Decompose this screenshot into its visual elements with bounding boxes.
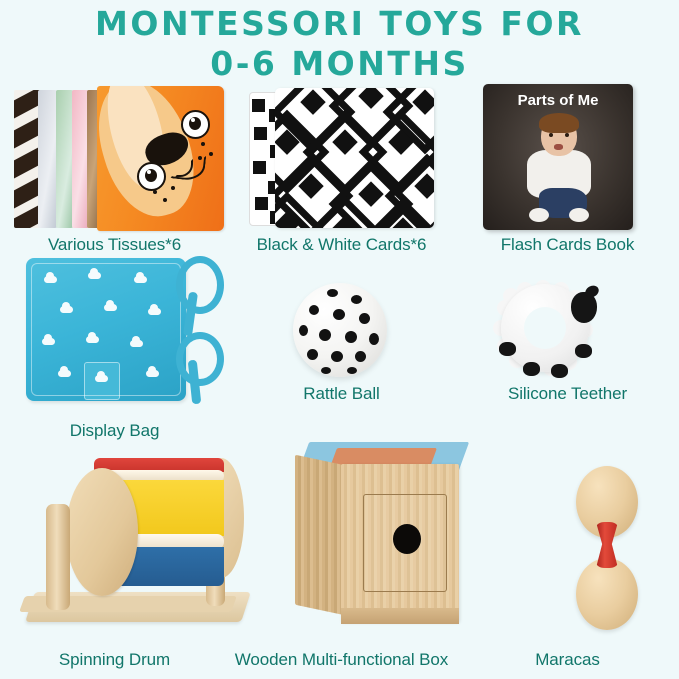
product-image-maracas (562, 466, 658, 636)
title-line-2: 0-6 MONTHS (0, 44, 679, 84)
baby-foot (529, 208, 549, 222)
product-label-silicone-teether: Silicone Teether (456, 384, 679, 404)
sheep-leg-icon (551, 364, 568, 378)
lion-freckle-icon (209, 152, 213, 156)
lion-freckle-icon (153, 190, 157, 194)
drum-support-post (46, 504, 70, 610)
product-image-display-bag (26, 256, 241, 404)
sheep-leg-icon (499, 342, 516, 356)
baby-photo-illustration (519, 116, 599, 228)
product-image-spinning-drum (22, 440, 254, 640)
display-bag-tie-loop (176, 332, 224, 386)
page-title: MONTESSORI TOYS FOR 0-6 MONTHS (0, 4, 679, 84)
display-bag-tie-loop (176, 256, 224, 314)
lion-eye-icon (137, 162, 166, 191)
bw-card-front (275, 88, 434, 228)
baby-eye (565, 133, 569, 137)
maraca-red-grip (596, 522, 618, 568)
lion-freckle-icon (163, 198, 167, 202)
product-image-various-tissues (14, 86, 224, 231)
product-label-wooden-multifunctional-box: Wooden Multi-functional Box (226, 650, 457, 670)
sheep-leg-icon (575, 344, 592, 358)
lion-cloth-book (97, 86, 224, 231)
lion-freckle-icon (198, 156, 202, 160)
product-label-rattle-ball: Rattle Ball (226, 384, 457, 404)
wooden-box-front-face (341, 464, 459, 622)
product-label-display-bag: Display Bag (0, 421, 229, 441)
product-label-flash-cards-book: Flash Cards Book (456, 235, 679, 255)
baby-hair (539, 113, 579, 133)
product-label-maracas: Maracas (456, 650, 679, 670)
product-image-rattle-ball (293, 283, 387, 377)
product-image-silicone-teether (493, 282, 605, 380)
lion-eye-icon (181, 110, 210, 139)
display-bag-pocket (84, 362, 120, 400)
baby-foot (569, 208, 589, 222)
cloth-book-stack (14, 90, 106, 228)
wooden-box-bottom-edge (341, 608, 459, 624)
baby-mouth (554, 144, 563, 150)
montessori-toys-poster: MONTESSORI TOYS FOR 0-6 MONTHS (0, 0, 679, 679)
title-line-1: MONTESSORI TOYS FOR (95, 4, 584, 43)
wooden-box-side-face (295, 455, 345, 616)
flash-book-cover-title: Parts of Me (483, 92, 633, 109)
product-label-black-white-cards: Black & White Cards*6 (226, 235, 457, 255)
product-image-wooden-multifunctional-box (293, 442, 483, 638)
baby-eye (549, 133, 553, 137)
wooden-box-ball-hole (393, 524, 421, 554)
lion-freckle-icon (201, 142, 205, 146)
product-label-spinning-drum: Spinning Drum (0, 650, 229, 670)
drum-front-disc (66, 468, 138, 596)
product-image-flash-cards-book: Parts of Me (483, 84, 633, 230)
maraca-bottom-ball (576, 558, 638, 630)
product-image-black-white-cards (249, 88, 434, 228)
lion-freckle-icon (171, 186, 175, 190)
display-bag-body (26, 258, 186, 401)
sheep-leg-icon (523, 362, 540, 376)
product-label-various-tissues: Various Tissues*6 (0, 235, 229, 255)
